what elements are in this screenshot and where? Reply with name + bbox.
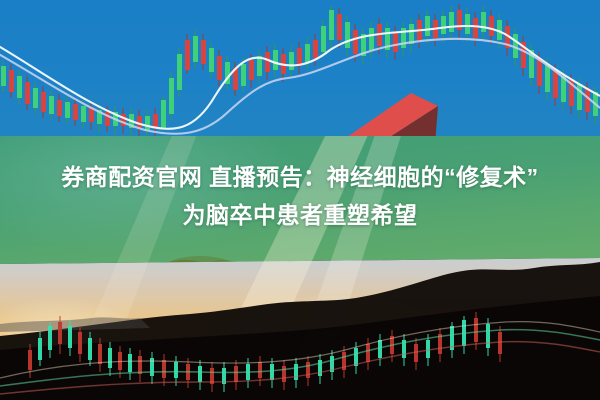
banner-image: 券商配资官网 直播预告：神经细胞的“修复术” 为脑卒中患者重塑希望 (0, 0, 600, 400)
night-candlestick-chart (0, 300, 600, 400)
headline-line-2: 为脑卒中患者重塑希望 (0, 196, 600, 234)
page-title: 券商配资官网 直播预告：神经细胞的“修复术” 为脑卒中患者重塑希望 (0, 158, 600, 234)
headline-line-1: 券商配资官网 直播预告：神经细胞的“修复术” (0, 158, 600, 196)
